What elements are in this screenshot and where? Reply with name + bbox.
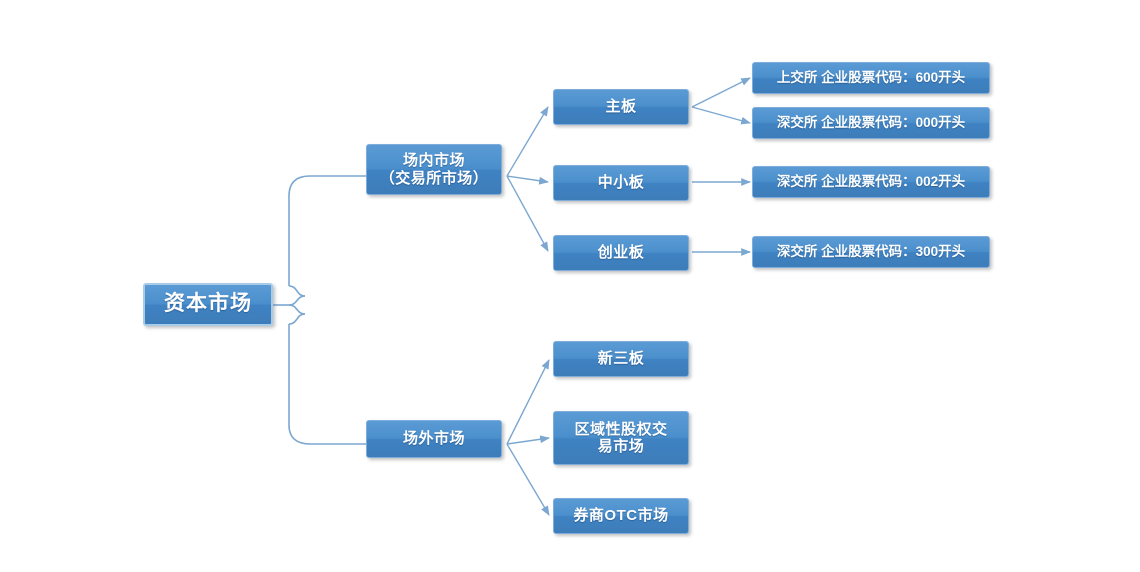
node-leaf-sse-600[interactable]: 上交所 企业股票代码：600开头 — [752, 62, 990, 94]
node-new-third-board[interactable]: 新三板 — [553, 341, 689, 377]
node-otc-market-label: 场外市场 — [397, 430, 471, 447]
node-root-label: 资本市场 — [158, 292, 258, 316]
node-sme-board-label: 中小板 — [592, 174, 651, 191]
node-chinext-board[interactable]: 创业板 — [553, 235, 689, 271]
node-leaf-szse-002-label: 深交所 企业股票代码：002开头 — [771, 174, 971, 190]
node-regional-equity-market-label: 区域性股权交 易市场 — [568, 421, 673, 456]
otc-market-fanout-connector — [507, 360, 549, 515]
capital-market-diagram: 资本市场 场内市场 （交易所市场） 场外市场 主板 中小板 创业板 新三板 区域… — [0, 0, 1140, 572]
node-broker-otc-market-label: 券商OTC市场 — [567, 507, 674, 524]
main-board-fanout-connector — [692, 78, 750, 123]
node-leaf-szse-000[interactable]: 深交所 企业股票代码：000开头 — [752, 107, 990, 139]
node-leaf-sse-600-label: 上交所 企业股票代码：600开头 — [771, 70, 971, 86]
node-leaf-szse-002[interactable]: 深交所 企业股票代码：002开头 — [752, 166, 990, 198]
node-sme-board[interactable]: 中小板 — [553, 165, 689, 201]
node-on-exchange-market-label: 场内市场 （交易所市场） — [374, 152, 495, 187]
root-brace-connector — [272, 176, 366, 444]
node-main-board[interactable]: 主板 — [553, 89, 689, 125]
node-main-board-label: 主板 — [599, 98, 642, 115]
node-new-third-board-label: 新三板 — [592, 350, 651, 367]
node-root-capital-market[interactable]: 资本市场 — [143, 283, 273, 326]
node-leaf-szse-300-label: 深交所 企业股票代码：300开头 — [771, 244, 971, 260]
node-leaf-szse-000-label: 深交所 企业股票代码：000开头 — [771, 115, 971, 131]
node-leaf-szse-300[interactable]: 深交所 企业股票代码：300开头 — [752, 236, 990, 268]
node-chinext-board-label: 创业板 — [592, 244, 651, 261]
node-on-exchange-market[interactable]: 场内市场 （交易所市场） — [366, 144, 502, 195]
node-broker-otc-market[interactable]: 券商OTC市场 — [553, 498, 689, 534]
on-exchange-fanout-connector — [507, 107, 548, 251]
node-otc-market[interactable]: 场外市场 — [366, 420, 502, 458]
node-regional-equity-market[interactable]: 区域性股权交 易市场 — [553, 411, 689, 465]
